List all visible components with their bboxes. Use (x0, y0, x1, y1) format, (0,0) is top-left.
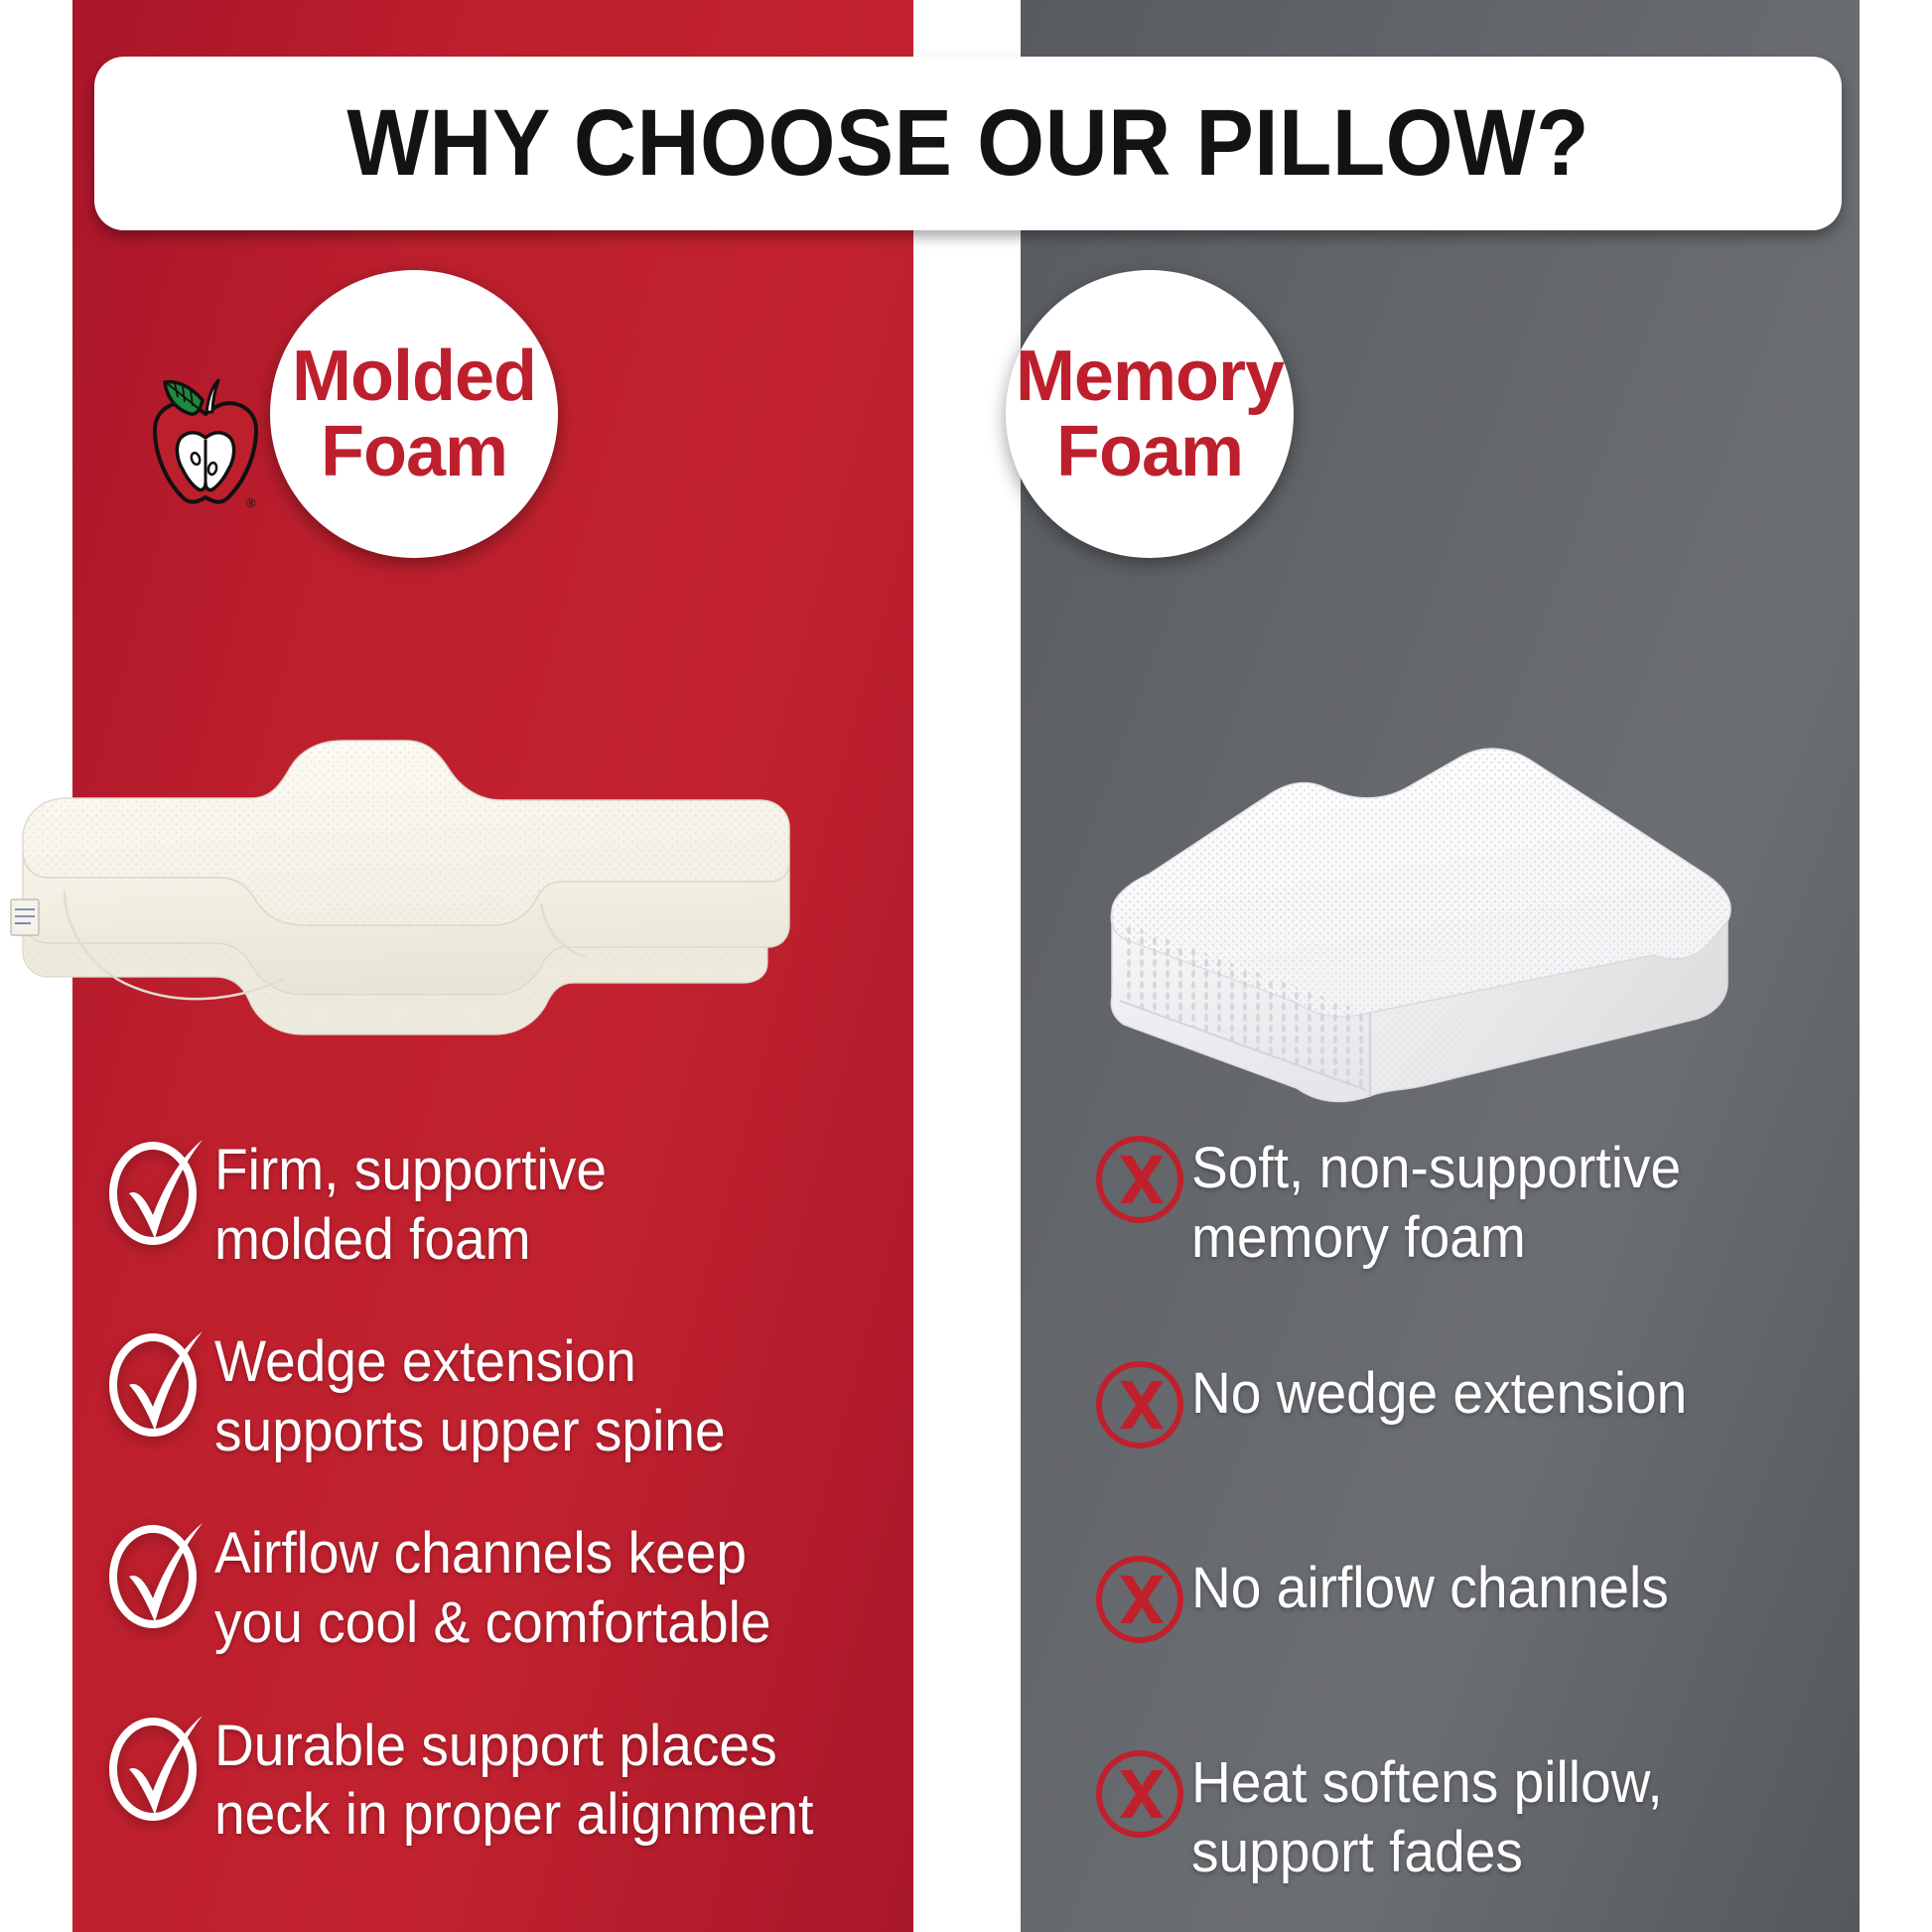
page-title: WHY CHOOSE OUR PILLOW? (346, 96, 1589, 191)
list-item: No airflow channels (1092, 1552, 1847, 1661)
apple-core-logo: ® (151, 352, 260, 511)
list-item: Wedge extension supports upper spine (107, 1323, 892, 1465)
check-icon (107, 1708, 214, 1825)
list-item: Firm, supportive molded foam (107, 1132, 892, 1274)
infographic-canvas: WHY CHOOSE OUR PILLOW? ® (0, 0, 1932, 1932)
molded-foam-pillow-photo (5, 715, 799, 1082)
check-icon (107, 1132, 214, 1249)
memory-foam-feature-list: Soft, non-supportive memory foam No wedg… (1092, 1132, 1847, 1932)
x-icon (1092, 1132, 1191, 1241)
memory-foam-pillow-photo (1072, 685, 1767, 1122)
pillow-brand-tag (11, 899, 39, 935)
list-item: Soft, non-supportive memory foam (1092, 1132, 1847, 1272)
memory-foam-badge-label: Memory Foam (1016, 339, 1284, 490)
list-item: Durable support places neck in proper al… (107, 1708, 892, 1850)
list-item: No wedge extension (1092, 1357, 1847, 1466)
list-item-label: Firm, supportive molded foam (214, 1132, 607, 1274)
title-banner: WHY CHOOSE OUR PILLOW? (94, 57, 1842, 230)
list-item-label: Durable support places neck in proper al… (214, 1708, 813, 1850)
list-item-label: Airflow channels keep you cool & comfort… (214, 1515, 770, 1657)
x-icon (1092, 1552, 1191, 1661)
x-icon (1092, 1746, 1191, 1856)
list-item-label: Heat softens pillow, support fades (1191, 1746, 1663, 1886)
list-item-label: Soft, non-supportive memory foam (1191, 1132, 1681, 1272)
list-item-label: No airflow channels (1191, 1552, 1669, 1623)
registered-trademark-symbol: ® (246, 495, 256, 510)
list-item: Airflow channels keep you cool & comfort… (107, 1515, 892, 1657)
memory-foam-badge: Memory Foam (1006, 270, 1294, 558)
list-item: Heat softens pillow, support fades (1092, 1746, 1847, 1886)
list-item-label: Wedge extension supports upper spine (214, 1323, 726, 1465)
list-item-label: No wedge extension (1191, 1357, 1687, 1429)
molded-foam-badge-label: Molded Foam (292, 339, 536, 490)
molded-foam-badge: Molded Foam (270, 270, 558, 558)
molded-foam-feature-list: Firm, supportive molded foam Wedge exten… (107, 1132, 892, 1899)
check-icon (107, 1515, 214, 1632)
check-icon (107, 1323, 214, 1441)
x-icon (1092, 1357, 1191, 1466)
